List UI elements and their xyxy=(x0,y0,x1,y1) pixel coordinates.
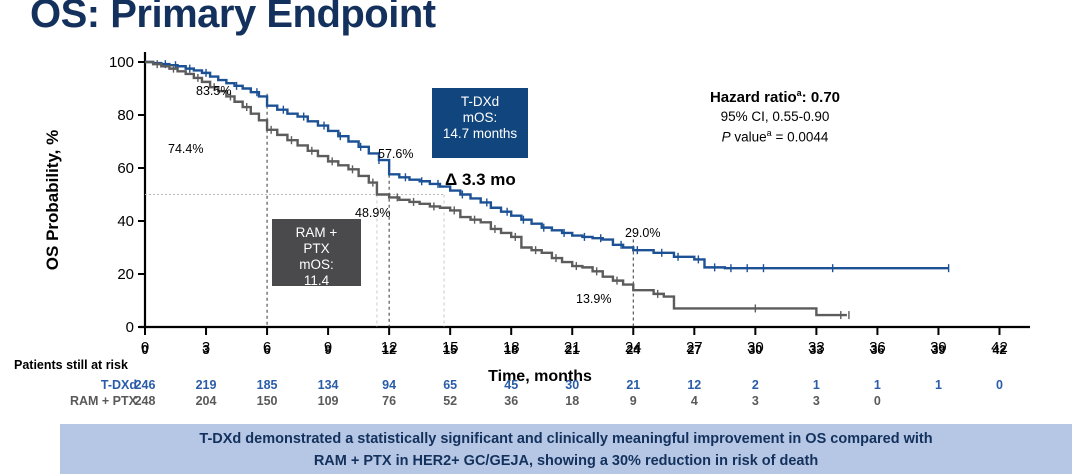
y-tick-label: 80 xyxy=(117,107,134,124)
risk-value-cell: 21 xyxy=(613,378,653,392)
risk-value-cell: 185 xyxy=(247,378,287,392)
risk-value-cell: 9 xyxy=(613,394,653,408)
risk-value-cell: 1 xyxy=(918,378,958,392)
pct-annotation: 13.9% xyxy=(576,292,611,306)
pct-annotation: 48.9% xyxy=(355,206,390,220)
risk-value-cell: 12 xyxy=(674,378,714,392)
banner-line-1: T-DXd demonstrated a statistically signi… xyxy=(60,428,1072,450)
p-value-line: P valuea = 0.0044 xyxy=(620,125,930,146)
risk-month-label: 3 xyxy=(186,343,226,357)
y-tick-label: 100 xyxy=(109,54,134,71)
p-word: value xyxy=(731,130,767,145)
confidence-interval: 95% CI, 0.55-0.90 xyxy=(620,108,930,125)
callout-ram-line1: RAM + PTX xyxy=(281,225,352,257)
risk-month-label: 21 xyxy=(552,343,592,357)
risk-value-cell: 1 xyxy=(796,378,836,392)
risk-value-cell: 2 xyxy=(735,378,775,392)
p-value-number: = 0.0044 xyxy=(772,130,829,145)
p-italic-label: P xyxy=(722,130,731,145)
risk-table-row: RAM + PTX2482041501097652361894330 xyxy=(0,394,1080,410)
risk-row-label: T-DXd xyxy=(37,378,137,392)
hazard-ratio-value: : 0.70 xyxy=(802,89,840,106)
risk-value-cell: 204 xyxy=(186,394,226,408)
risk-month-label: 24 xyxy=(613,343,653,357)
risk-value-cell: 1 xyxy=(857,378,897,392)
summary-banner: T-DXd demonstrated a statistically signi… xyxy=(60,424,1072,474)
risk-month-label: 6 xyxy=(247,343,287,357)
risk-value-cell: 3 xyxy=(796,394,836,408)
y-axis-title: OS Probability, % xyxy=(43,85,63,315)
risk-month-label: 9 xyxy=(308,343,348,357)
risk-value-cell: 4 xyxy=(674,394,714,408)
risk-table-month-header: 03691215182124273033363942 xyxy=(0,343,1080,359)
delta-annotation: Δ 3.3 mo xyxy=(445,170,516,190)
risk-value-cell: 0 xyxy=(857,394,897,408)
risk-value-cell: 3 xyxy=(735,394,775,408)
risk-value-cell: 45 xyxy=(491,378,531,392)
risk-month-label: 18 xyxy=(491,343,531,357)
risk-value-cell: 246 xyxy=(125,378,165,392)
y-tick-label: 60 xyxy=(117,160,134,177)
callout-tdxd-line3: 14.7 months xyxy=(441,126,519,142)
callout-tdxd-line1: T-DXd xyxy=(441,94,519,110)
risk-month-label: 15 xyxy=(430,343,470,357)
risk-value-cell: 94 xyxy=(369,378,409,392)
risk-month-label: 30 xyxy=(735,343,775,357)
banner-line-2: RAM + PTX in HER2+ GC/GEJA, showing a 30… xyxy=(60,450,1072,472)
page-title: OS: Primary Endpoint xyxy=(30,0,436,37)
risk-value-cell: 0 xyxy=(979,378,1019,392)
risk-value-cell: 150 xyxy=(247,394,287,408)
risk-month-label: 27 xyxy=(674,343,714,357)
risk-month-label: 33 xyxy=(796,343,836,357)
pct-annotation: 29.0% xyxy=(625,226,660,240)
hazard-ratio-line: Hazard ratioa: 0.70 xyxy=(620,88,930,106)
slide-root: OS: Primary Endpoint OS Probability, % 0… xyxy=(0,0,1080,474)
risk-value-cell: 76 xyxy=(369,394,409,408)
hazard-ratio-label: Hazard ratio xyxy=(710,89,797,106)
risk-month-label: 12 xyxy=(369,343,409,357)
risk-value-cell: 134 xyxy=(308,378,348,392)
risk-value-cell: 109 xyxy=(308,394,348,408)
risk-table-row: T-DXd24621918513494654530211221110 xyxy=(0,378,1080,394)
risk-value-cell: 52 xyxy=(430,394,470,408)
patients-at-risk-table: 03691215182124273033363942T-DXd246219185… xyxy=(0,378,1080,410)
y-tick-label: 40 xyxy=(117,213,134,230)
risk-table-header: Patients still at risk xyxy=(14,358,128,372)
risk-value-cell: 65 xyxy=(430,378,470,392)
pct-annotation: 57.6% xyxy=(378,147,413,161)
callout-ram-line2: mOS: xyxy=(281,257,352,273)
pct-annotation: 74.4% xyxy=(168,142,203,156)
risk-month-label: 42 xyxy=(979,343,1019,357)
callout-tdxd-line2: mOS: xyxy=(441,110,519,126)
risk-row-label: RAM + PTX xyxy=(37,394,137,408)
callout-tdxd-mos: T-DXd mOS: 14.7 months xyxy=(432,88,528,158)
risk-value-cell: 248 xyxy=(125,394,165,408)
risk-value-cell: 36 xyxy=(491,394,531,408)
callout-ram-line3: 11.4 months xyxy=(281,273,352,305)
risk-value-cell: 30 xyxy=(552,378,592,392)
y-tick-label: 0 xyxy=(126,319,134,336)
risk-month-label: 36 xyxy=(857,343,897,357)
risk-value-cell: 18 xyxy=(552,394,592,408)
risk-month-label: 0 xyxy=(125,343,165,357)
statistics-block: Hazard ratioa: 0.70 95% CI, 0.55-0.90 P … xyxy=(620,88,930,146)
callout-ram-mos: RAM + PTX mOS: 11.4 months xyxy=(272,219,361,286)
risk-value-cell: 219 xyxy=(186,378,226,392)
y-tick-label: 20 xyxy=(117,266,134,283)
pct-annotation: 83.5% xyxy=(196,84,231,98)
risk-month-label: 39 xyxy=(918,343,958,357)
